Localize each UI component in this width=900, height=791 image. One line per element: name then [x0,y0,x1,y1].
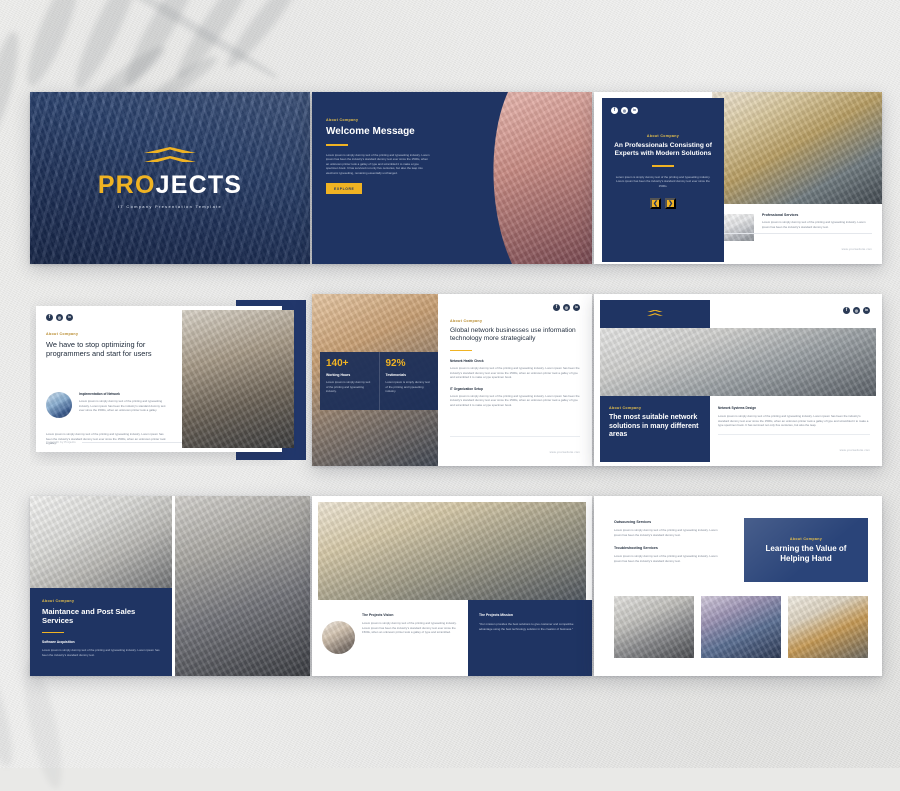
maintenance-title: Maintance and Post Sales Services [42,607,160,626]
global-network-title: Global network businesses use informatio… [450,327,580,344]
global-network-kicker: About Company [450,319,580,323]
outsourcing-services-title: Outsourcing Services [614,520,722,524]
professionals-title: An Professionals Consisting of Experts w… [613,142,713,158]
brand-wordmark-part-b: JECTS [156,171,243,199]
social-links[interactable]: f ◎ in [611,107,638,114]
vision-title: The Projects Vision [362,613,457,617]
stat-working-hours: 140+ Working Hours Lorem ipsum is simply… [320,352,379,410]
slide-grid: PROJECTS IT Company Presentation Templat… [30,92,880,684]
suitable-solutions-title: The most suitable network solutions in m… [609,414,701,440]
professional-services-title: Professional Services [762,213,872,217]
slide-suitable-solutions[interactable]: f ◎ in About Company The most suitable n… [594,294,882,466]
professionals-body: Lorem ipsum is simply dummy text of the … [613,175,713,189]
professionals-navy-panel: f ◎ in About Company An Professionals Co… [602,98,724,262]
suitable-solutions-footer-url: www.yourwebsite.com [840,449,870,452]
welcome-body: Lorem ipsum is simply dummy text of the … [326,153,430,176]
instagram-icon[interactable]: ◎ [56,314,63,321]
welcome-divider [326,144,348,146]
vision-thumbnail [322,621,355,654]
facebook-icon[interactable]: f [46,314,53,321]
slide-vision-mission[interactable]: The Projects Vision Lorem ipsum is simpl… [312,496,592,676]
optimizing-footer: Copyright by Projects [46,441,76,444]
instagram-icon[interactable]: ◎ [621,107,628,114]
suitable-solutions-photo [600,328,876,396]
network-health-check-body: Lorem ipsum is simply dummy text of the … [450,366,580,380]
carousel-next-button[interactable]: ❯ [665,198,676,209]
linkedin-icon[interactable]: in [573,304,580,311]
carousel-prev-button[interactable]: ❮ [650,198,661,209]
implementation-title: Implementation of Network [79,392,168,396]
cover-logo-block: PROJECTS IT Company Presentation Templat… [30,92,310,264]
maintenance-kicker: About Company [42,599,160,603]
slide-cover[interactable]: PROJECTS IT Company Presentation Templat… [30,92,310,264]
mission-title: The Projects Mission [479,613,581,617]
linkedin-icon[interactable]: in [863,307,870,314]
professionals-kicker: About Company [613,134,713,138]
network-health-check-title: Network Health Check [450,359,580,363]
social-links[interactable]: f ◎ in [46,314,73,321]
stats-panel: 140+ Working Hours Lorem ipsum is simply… [320,352,438,410]
thumbnail-row [614,596,868,658]
linkedin-icon[interactable]: in [66,314,73,321]
maintenance-photo-hands [175,496,310,676]
global-network-divider [450,350,472,352]
outsourcing-services-body: Lorem ipsum is simply dummy text of the … [614,528,722,537]
software-acquisition-title: Software Acquisition [42,640,160,644]
brand-wordmark-part-a: PRO [98,171,156,199]
slide-maintenance[interactable]: About Company Maintance and Post Sales S… [30,496,310,676]
it-organization-setup-body: Lorem ipsum is simply dummy text of the … [450,394,580,408]
thumbnail-coffee [788,596,868,658]
linkedin-icon[interactable]: in [631,107,638,114]
instagram-icon[interactable]: ◎ [853,307,860,314]
vision-mission-photo [318,502,586,600]
thumbnail-typing [614,596,694,658]
global-network-footer-url: www.yourwebsite.com [550,451,580,454]
instagram-icon[interactable]: ◎ [563,304,570,311]
stat-caption: Lorem ipsum is simply dummy text of the … [386,380,433,394]
slide-global-network[interactable]: 140+ Working Hours Lorem ipsum is simply… [312,294,592,466]
professionals-footer-url: www.yourwebsite.com [842,248,872,251]
explore-button[interactable]: EXPLORE [326,183,362,194]
optimizing-kicker: About Company [46,332,168,336]
vision-card: The Projects Vision Lorem ipsum is simpl… [312,600,468,676]
slide-outsourcing[interactable]: Outsourcing Services Lorem ipsum is simp… [594,496,882,676]
logo-bar [600,300,710,328]
banner-kicker: About Company [790,537,822,541]
optimizing-photo-developers [182,310,294,448]
maintenance-photo-desk [30,496,172,590]
network-systems-design-title: Network Systems Design [718,406,870,410]
implementation-body: Lorem ipsum is simply dummy text of the … [79,399,168,413]
mission-body: "Our mission provides the best solutions… [479,622,581,631]
facebook-icon[interactable]: f [843,307,850,314]
slide-welcome[interactable]: About Company Welcome Message Lorem ipsu… [312,92,592,264]
brand-wordmark: PROJECTS [98,173,242,198]
professional-services-body: Lorem ipsum is simply dummy text of the … [762,220,872,229]
it-organization-setup-title: IT Organization Setup [450,387,580,391]
stat-label: Testimonials [386,373,433,377]
professionals-card-area: Professional Services Lorem ipsum is sim… [712,204,882,264]
stat-label: Working Hours [326,373,373,377]
feature-avatar [46,392,72,418]
maintenance-divider [42,632,64,634]
maintenance-navy-panel: About Company Maintance and Post Sales S… [30,588,172,676]
software-acquisition-body: Lorem ipsum is simply dummy text of the … [42,648,160,657]
welcome-content: About Company Welcome Message Lorem ipsu… [326,118,442,195]
optimizing-title: We have to stop optimizing for programme… [46,340,168,359]
social-links[interactable]: f ◎ in [450,304,580,311]
stat-testimonials: 92% Testimonials Lorem ipsum is simply d… [379,352,439,410]
social-links[interactable]: f ◎ in [843,307,870,314]
suitable-solutions-kicker: About Company [609,406,701,410]
slide-optimizing[interactable]: f ◎ in About Company We have to stop opt… [30,294,310,466]
vision-body: Lorem ipsum is simply dummy text of the … [362,621,457,635]
professionals-divider [652,165,674,167]
welcome-kicker: About Company [326,118,442,122]
mission-card: The Projects Mission "Our mission provid… [468,600,592,676]
learning-banner: About Company Learning the Value of Help… [744,518,868,582]
suitable-solutions-caption-panel: About Company The most suitable network … [600,396,710,462]
thumbnail-tablet [701,596,781,658]
chevron-logo-icon [144,147,196,169]
chevron-logo-icon [647,310,663,319]
banner-title: Learning the Value of Helping Hand [744,544,868,564]
professionals-photo-meeting [712,92,882,204]
troubleshooting-services-body: Lorem ipsum is simply dummy text of the … [614,554,722,563]
stat-caption: Lorem ipsum is simply dummy text of the … [326,380,373,394]
welcome-title: Welcome Message [326,126,442,138]
troubleshooting-services-title: Troubleshooting Services [614,546,722,550]
slide-professionals[interactable]: Professional Services Lorem ipsum is sim… [594,92,882,264]
stat-value: 92% [386,359,433,369]
facebook-icon[interactable]: f [611,107,618,114]
cover-tagline: IT Company Presentation Template [118,204,222,209]
facebook-icon[interactable]: f [553,304,560,311]
network-systems-design-body: Lorem ipsum is simply dummy text of the … [718,414,870,428]
stat-value: 140+ [326,359,373,369]
